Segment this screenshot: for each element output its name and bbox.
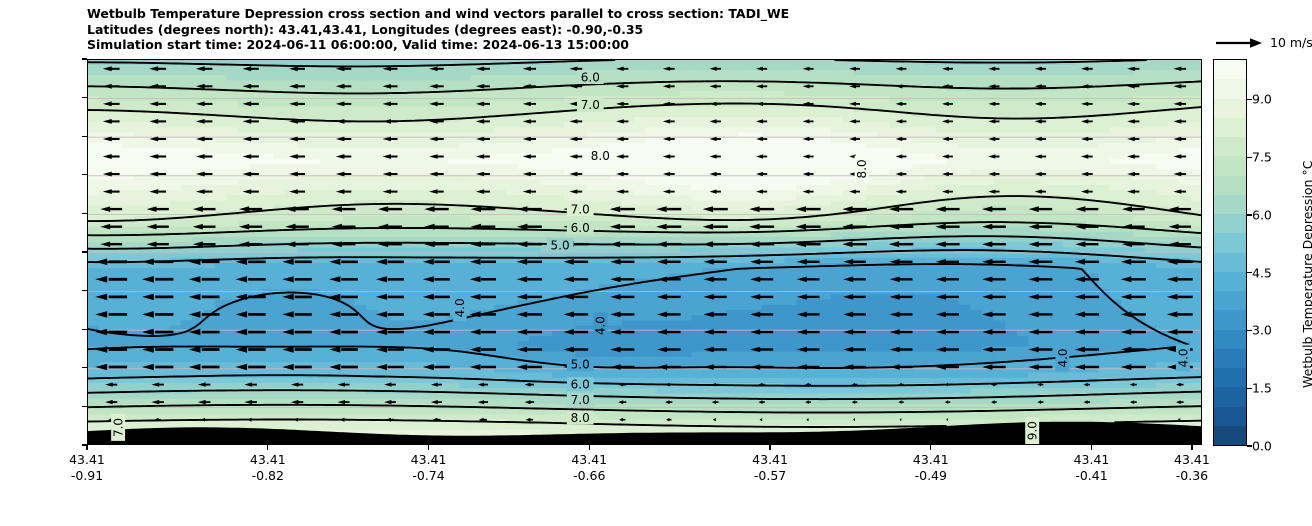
colorbar-band — [1214, 387, 1246, 406]
x-tick-label: 43.41-0.49 — [913, 452, 949, 484]
contour-label: 8.0 — [855, 159, 869, 178]
quiver-key: 10 m/s — [1214, 33, 1312, 55]
y-tick-mark — [82, 290, 87, 291]
contour-label: 7.0 — [571, 393, 590, 407]
y-tick-mark — [82, 58, 87, 59]
x-tick-latitude: 43.41 — [411, 452, 447, 468]
x-tick-mark — [1191, 445, 1192, 450]
cross-section-plot[interactable]: 6.07.08.08.07.06.05.04.04.05.06.07.08.04… — [87, 59, 1202, 445]
x-tick-latitude: 43.41 — [752, 452, 788, 468]
x-tick-longitude: -0.57 — [752, 468, 788, 484]
contour-label: 4.0 — [453, 298, 467, 317]
colorbar-tick-label: 4.5 — [1252, 265, 1272, 280]
x-tick-latitude: 43.41 — [1074, 452, 1110, 468]
colorbar-band — [1214, 272, 1246, 291]
x-tick-longitude: -0.82 — [250, 468, 286, 484]
x-tick-latitude: 43.41 — [1174, 452, 1210, 468]
colorbar-band — [1214, 99, 1246, 118]
x-tick-longitude: -0.36 — [1174, 468, 1210, 484]
x-tick-latitude: 43.41 — [69, 452, 105, 468]
title-line-3: Simulation start time: 2024-06-11 06:00:… — [87, 37, 1207, 53]
contour-label: 8.0 — [571, 411, 590, 425]
contour-field: 6.07.08.08.07.06.05.04.04.05.06.07.08.04… — [88, 60, 1202, 445]
x-tick-mark — [428, 445, 429, 450]
contour-label: 9.0 — [1026, 421, 1040, 440]
contour-label: 5.0 — [571, 358, 590, 372]
x-tick-latitude: 43.41 — [913, 452, 949, 468]
contour-label: 5.0 — [551, 239, 570, 253]
colorbar-band — [1214, 253, 1246, 272]
colorbar-label: Wetbulb Temperature Depression °C — [1300, 160, 1312, 387]
colorbar-band — [1214, 233, 1246, 252]
x-tick-label: 43.41-0.41 — [1074, 452, 1110, 484]
colorbar-band — [1214, 368, 1246, 387]
x-tick-mark — [267, 445, 268, 450]
y-tick-mark — [82, 97, 87, 98]
colorbar-tick-label: 7.5 — [1252, 150, 1272, 165]
colorbar-band — [1214, 79, 1246, 98]
contour-label: 6.0 — [571, 378, 590, 392]
x-tick-longitude: -0.91 — [69, 468, 105, 484]
y-tick-mark — [82, 213, 87, 214]
colorbar-band — [1214, 176, 1246, 195]
contour-label: 8.0 — [591, 149, 610, 163]
x-tick-longitude: -0.66 — [571, 468, 607, 484]
contour-label: 4.0 — [1056, 348, 1070, 367]
x-tick-label: 43.41-0.57 — [752, 452, 788, 484]
title-line-1: Wetbulb Temperature Depression cross sec… — [87, 6, 1207, 22]
colorbar-tick-label: 0.0 — [1252, 439, 1272, 454]
colorbar-band — [1214, 349, 1246, 368]
x-tick-mark — [589, 445, 590, 450]
colorbar-band — [1214, 426, 1246, 445]
x-tick-label: 43.41-0.82 — [250, 452, 286, 484]
colorbar[interactable] — [1213, 59, 1247, 446]
y-tick-mark — [82, 251, 87, 252]
x-tick-label: 43.41-0.36 — [1174, 452, 1210, 484]
x-tick-label: 43.41-0.66 — [571, 452, 607, 484]
contour-label: 4.0 — [594, 316, 608, 335]
colorbar-band — [1214, 137, 1246, 156]
contour-label: 7.0 — [581, 98, 600, 112]
y-tick-mark — [82, 174, 87, 175]
quiver-key-label: 10 m/s — [1270, 35, 1312, 50]
colorbar-tick-label: 3.0 — [1252, 323, 1272, 338]
title-line-2: Latitudes (degrees north): 43.41,43.41, … — [87, 22, 1207, 38]
x-tick-longitude: -0.49 — [913, 468, 949, 484]
contour-label: 7.0 — [571, 202, 590, 216]
colorbar-tick-label: 1.5 — [1252, 381, 1272, 396]
x-tick-latitude: 43.41 — [250, 452, 286, 468]
colorbar-band — [1214, 330, 1246, 349]
x-tick-longitude: -0.74 — [411, 468, 447, 484]
x-tick-mark — [769, 445, 770, 450]
contour-label: 6.0 — [581, 70, 600, 84]
colorbar-band — [1214, 291, 1246, 310]
x-tick-mark — [1091, 445, 1092, 450]
colorbar-band — [1214, 118, 1246, 137]
x-tick-latitude: 43.41 — [571, 452, 607, 468]
contour-label: 7.0 — [111, 418, 125, 437]
y-tick-mark — [82, 367, 87, 368]
colorbar-tick-label: 9.0 — [1252, 92, 1272, 107]
colorbar-tick-label: 6.0 — [1252, 207, 1272, 222]
y-tick-mark — [82, 136, 87, 137]
x-tick-mark — [930, 445, 931, 450]
contour-label: 6.0 — [571, 221, 590, 235]
colorbar-band — [1214, 214, 1246, 233]
colorbar-band — [1214, 60, 1246, 79]
colorbar-band — [1214, 310, 1246, 329]
contour-label: 4.0 — [1176, 348, 1190, 367]
x-tick-mark — [86, 445, 87, 450]
figure-title-block: Wetbulb Temperature Depression cross sec… — [87, 6, 1207, 53]
quiver-key-arrow-icon — [1214, 33, 1266, 53]
colorbar-band — [1214, 407, 1246, 426]
y-tick-mark — [82, 329, 87, 330]
colorbar-band — [1214, 156, 1246, 175]
y-tick-mark — [82, 406, 87, 407]
x-tick-label: 43.41-0.74 — [411, 452, 447, 484]
x-tick-longitude: -0.41 — [1074, 468, 1110, 484]
x-tick-label: 43.41-0.91 — [69, 452, 105, 484]
colorbar-band — [1214, 195, 1246, 214]
